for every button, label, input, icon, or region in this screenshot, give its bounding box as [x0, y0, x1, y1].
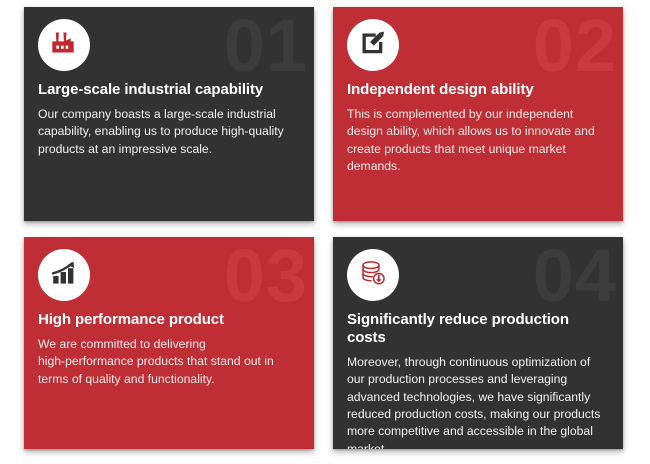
card-description: This is complemented by our independent … — [347, 106, 611, 175]
icon-badge — [347, 19, 399, 71]
card-body: Independent design ability This is compl… — [347, 81, 611, 175]
feature-card-03[interactable]: 03 High performance product — [24, 237, 314, 449]
card-title: Large-scale industrial capability — [38, 81, 302, 99]
bar-chart-growth-icon — [48, 257, 80, 294]
card-title: Significantly reduce production costs — [347, 311, 611, 347]
card-body: High performance product We are committe… — [38, 311, 302, 388]
card-description: Moreover, through continuous optimizatio… — [347, 354, 611, 449]
database-down-arrow-icon — [357, 257, 389, 294]
infographic-board: 01 — [0, 0, 650, 464]
factory-icon — [48, 27, 80, 64]
card-number-watermark: 01 — [224, 9, 308, 83]
card-body: Large-scale industrial capability Our co… — [38, 81, 302, 158]
pencil-square-icon — [357, 27, 389, 64]
card-description: Our company boasts a large-scale industr… — [38, 106, 302, 158]
card-number-watermark: 04 — [533, 239, 617, 313]
feature-card-01[interactable]: 01 — [24, 7, 314, 221]
feature-card-04[interactable]: 04 — [333, 237, 623, 449]
card-description: We are committed to delivering high-perf… — [38, 336, 302, 388]
icon-badge — [38, 249, 90, 301]
card-title: Independent design ability — [347, 81, 611, 99]
card-number-watermark: 03 — [224, 239, 308, 313]
card-body: Significantly reduce production costs Mo… — [347, 311, 611, 449]
icon-badge — [38, 19, 90, 71]
card-number-watermark: 02 — [533, 9, 617, 83]
feature-card-grid: 01 — [24, 7, 623, 449]
feature-card-02[interactable]: 02 Independent design ability This is c — [333, 7, 623, 221]
icon-badge — [347, 249, 399, 301]
card-title: High performance product — [38, 311, 302, 329]
